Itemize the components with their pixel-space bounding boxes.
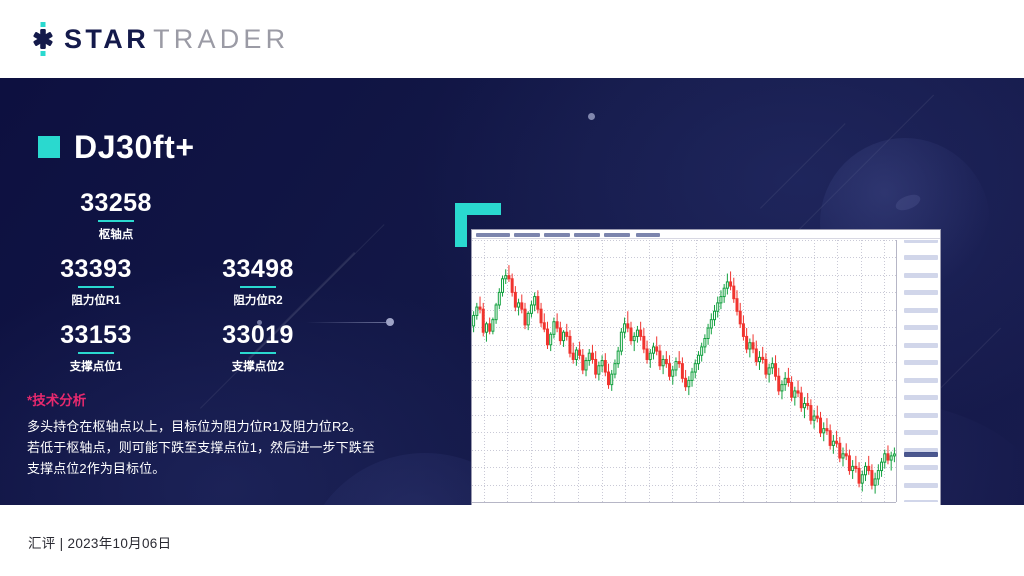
chart-price-axis bbox=[896, 240, 940, 502]
level-underline bbox=[240, 352, 276, 354]
level-pivot: 33258 枢轴点 bbox=[56, 190, 176, 242]
analysis-line-2: 若低于枢轴点，则可能下跌至支撑点位1，然后进一步下跌至 bbox=[27, 437, 412, 458]
candlestick-series bbox=[472, 240, 896, 502]
instrument-marker-icon bbox=[38, 136, 60, 158]
brand-name-light: TRADER bbox=[153, 26, 289, 53]
page-footer: 汇评 | 2023年10月06日 bbox=[0, 505, 1024, 576]
pivot-levels: 33258 枢轴点 33393 阻力位R1 33498 阻力位R2 bbox=[0, 190, 430, 374]
level-resistance-2: 33498 阻力位R2 bbox=[198, 256, 318, 308]
level-underline bbox=[78, 286, 114, 288]
level-support-2-label: 支撑点位2 bbox=[198, 358, 318, 374]
level-resistance-2-label: 阻力位R2 bbox=[198, 292, 318, 308]
page-header: STAR TRADER bbox=[0, 0, 1024, 78]
info-panel: DJ30ft+ 33258 枢轴点 33393 阻力位R1 33498 bbox=[0, 78, 430, 505]
level-underline bbox=[240, 286, 276, 288]
level-resistance-1-label: 阻力位R1 bbox=[36, 292, 156, 308]
level-support-2: 33019 支撑点位2 bbox=[198, 322, 318, 374]
analysis-line-3: 支撑点位2作为目标位。 bbox=[27, 458, 412, 479]
level-support-2-value: 33019 bbox=[198, 322, 318, 349]
level-resistance-1: 33393 阻力位R1 bbox=[36, 256, 156, 308]
footer-text: 汇评 | 2023年10月06日 bbox=[28, 532, 171, 552]
chart-plot-area bbox=[472, 240, 896, 502]
analysis-heading: *技术分析 bbox=[27, 393, 412, 409]
level-resistance-2-value: 33498 bbox=[198, 256, 318, 283]
level-pivot-label: 枢轴点 bbox=[56, 226, 176, 242]
star-asterisk-icon bbox=[28, 22, 58, 56]
level-pivot-value: 33258 bbox=[56, 190, 176, 217]
brand-name-bold: STAR bbox=[64, 26, 149, 53]
brand-logo[interactable]: STAR TRADER bbox=[28, 22, 289, 56]
hero-stage: DJ30ft+ 33258 枢轴点 33393 阻力位R1 33498 bbox=[0, 78, 1024, 505]
instrument-symbol: DJ30ft+ bbox=[74, 131, 195, 163]
level-support-1-label: 支撑点位1 bbox=[36, 358, 156, 374]
price-chart[interactable] bbox=[471, 229, 941, 505]
level-resistance-1-value: 33393 bbox=[36, 256, 156, 283]
level-support-1-value: 33153 bbox=[36, 322, 156, 349]
instrument-title: DJ30ft+ bbox=[38, 131, 195, 163]
level-underline bbox=[78, 352, 114, 354]
level-underline bbox=[98, 220, 134, 222]
chart-ohlc-header bbox=[472, 230, 940, 239]
technical-analysis: *技术分析 多头持仓在枢轴点以上，目标位为阻力位R1及阻力位R2。 若低于枢轴点… bbox=[27, 393, 412, 479]
level-support-1: 33153 支撑点位1 bbox=[36, 322, 156, 374]
analysis-line-1: 多头持仓在枢轴点以上，目标位为阻力位R1及阻力位R2。 bbox=[27, 416, 412, 437]
